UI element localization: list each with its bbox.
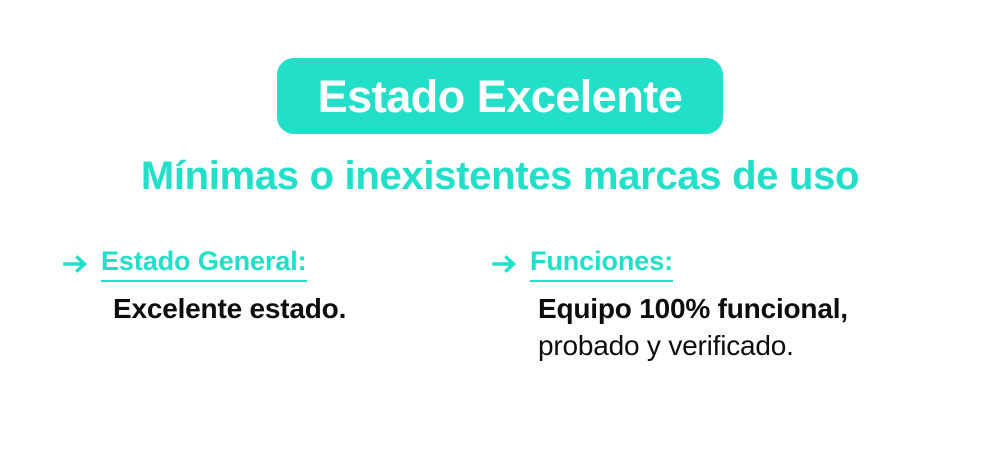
detail-column-funciones: Funciones: Equipo 100% funcional, probad… [492, 246, 952, 365]
detail-column-label: Funciones: [530, 246, 673, 282]
title-badge-row: Estado Excelente [0, 58, 1000, 134]
detail-line: Excelente estado. [113, 291, 483, 328]
detail-columns: Estado General: Excelente estado. Funcio… [0, 246, 1000, 436]
detail-column-label: Estado General: [101, 246, 307, 282]
status-badge-label: Estado Excelente [318, 74, 683, 119]
detail-column-body: Equipo 100% funcional, probado y verific… [492, 291, 952, 365]
arrow-right-icon [63, 249, 91, 279]
detail-column-header: Funciones: [492, 246, 952, 282]
subtitle-text: Mínimas o inexistentes marcas de uso [141, 153, 859, 199]
detail-column-header: Estado General: [63, 246, 483, 282]
detail-line: Equipo 100% funcional, [538, 291, 952, 328]
subtitle-row: Mínimas o inexistentes marcas de uso [0, 153, 1000, 199]
status-badge: Estado Excelente [277, 58, 723, 134]
detail-column-body: Excelente estado. [63, 291, 483, 328]
condition-info-slide: Estado Excelente Mínimas o inexistentes … [0, 0, 1000, 455]
detail-line: probado y verificado. [538, 328, 952, 365]
arrow-right-icon [492, 249, 520, 279]
detail-column-estado-general: Estado General: Excelente estado. [63, 246, 483, 328]
